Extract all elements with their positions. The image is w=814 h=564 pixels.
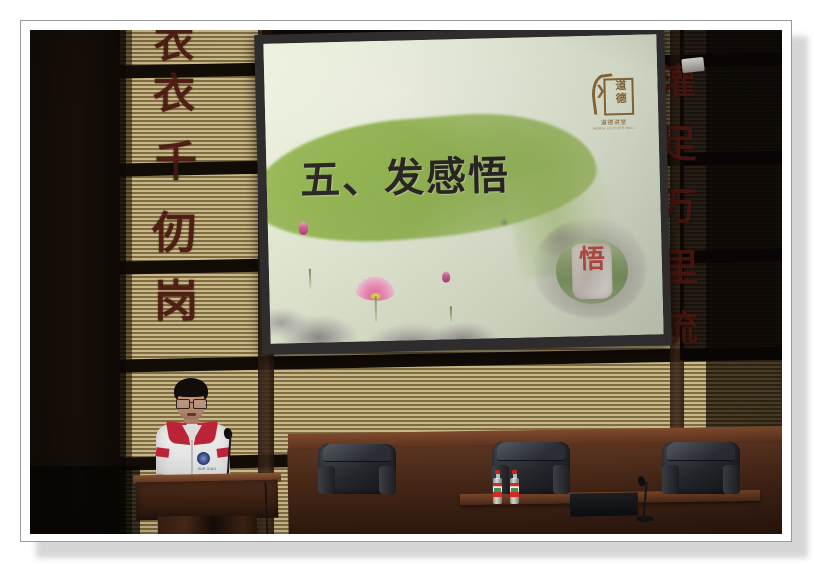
stone-carved-glyph: 悟 <box>556 246 629 274</box>
conference-chair <box>318 444 396 494</box>
speaker-hair-fringe <box>175 387 207 397</box>
conference-chair <box>662 442 740 494</box>
screenshot-canvas: 衣 衣 千 仞 岗 灌 足 万 里 流 五、发感悟 ❯ <box>0 0 814 564</box>
seal-logo-icon: ❯ 道德 <box>592 74 635 117</box>
speaker-mouth <box>187 413 196 416</box>
lotus-bud-stem <box>450 306 452 321</box>
chair-side-bolster <box>379 466 396 494</box>
chair-side-bolster <box>662 465 679 494</box>
lotus-flower <box>348 274 403 315</box>
auditorium-photograph: 衣 衣 千 仞 岗 灌 足 万 里 流 五、发感悟 ❯ <box>30 30 782 534</box>
stone-monument-graphic: 悟 <box>533 217 647 320</box>
wall-calligraphy-left: 衣 <box>142 74 206 116</box>
water-bottle <box>510 470 519 504</box>
table-microphone-base <box>636 516 654 522</box>
eyeglass-lens <box>193 399 207 409</box>
ink-wash-dot <box>500 218 509 227</box>
bottle-label-accent <box>511 488 518 492</box>
wall-calligraphy-left: 岗 <box>144 280 208 324</box>
logo-latin-caption: MORAL LECTURE HALL <box>591 126 637 131</box>
school-crest-text: XUE XIAO <box>196 467 218 471</box>
eyeglass-lens <box>176 399 190 409</box>
eyeglasses-icon <box>176 399 207 407</box>
podium-column <box>158 515 259 534</box>
speaker-shoulder-stripe <box>156 447 170 458</box>
water-bottle <box>493 470 502 504</box>
seal-glyph-text: 道德 <box>610 80 633 109</box>
wall-calligraphy-left: 千 <box>144 142 208 184</box>
bottle-label-accent <box>494 488 501 492</box>
projection-screen-surface: 五、发感悟 ❯ 道德 道德讲堂 MORAL LECTURE HALL <box>263 34 663 344</box>
chair-headrest <box>497 442 566 461</box>
slide-title: 五、发感悟 <box>299 143 510 206</box>
chair-side-bolster <box>553 465 570 494</box>
school-crest-badge <box>197 452 210 465</box>
chair-headrest <box>667 442 736 461</box>
table-nameplate <box>570 492 638 516</box>
projection-screen: 五、发感悟 ❯ 道德 道德讲堂 MORAL LECTURE HALL <box>254 30 672 355</box>
lotus-bud <box>299 222 308 235</box>
lotus-bud <box>442 271 450 282</box>
lotus-bud-stem <box>309 269 311 289</box>
wall-calligraphy-left: 衣 <box>142 30 206 64</box>
ceiling-speaker-box <box>681 57 704 73</box>
podium-front-panel <box>136 480 279 521</box>
chair-side-bolster <box>318 466 335 494</box>
conference-chair <box>492 442 570 494</box>
presentation-slide: 五、发感悟 ❯ 道德 道德讲堂 MORAL LECTURE HALL <box>263 34 663 344</box>
wall-calligraphy-left: 仞 <box>142 212 206 256</box>
slide-brand-logo: ❯ 道德 道德讲堂 MORAL LECTURE HALL <box>590 74 637 131</box>
chair-side-bolster <box>723 465 740 494</box>
chair-headrest <box>323 444 392 462</box>
